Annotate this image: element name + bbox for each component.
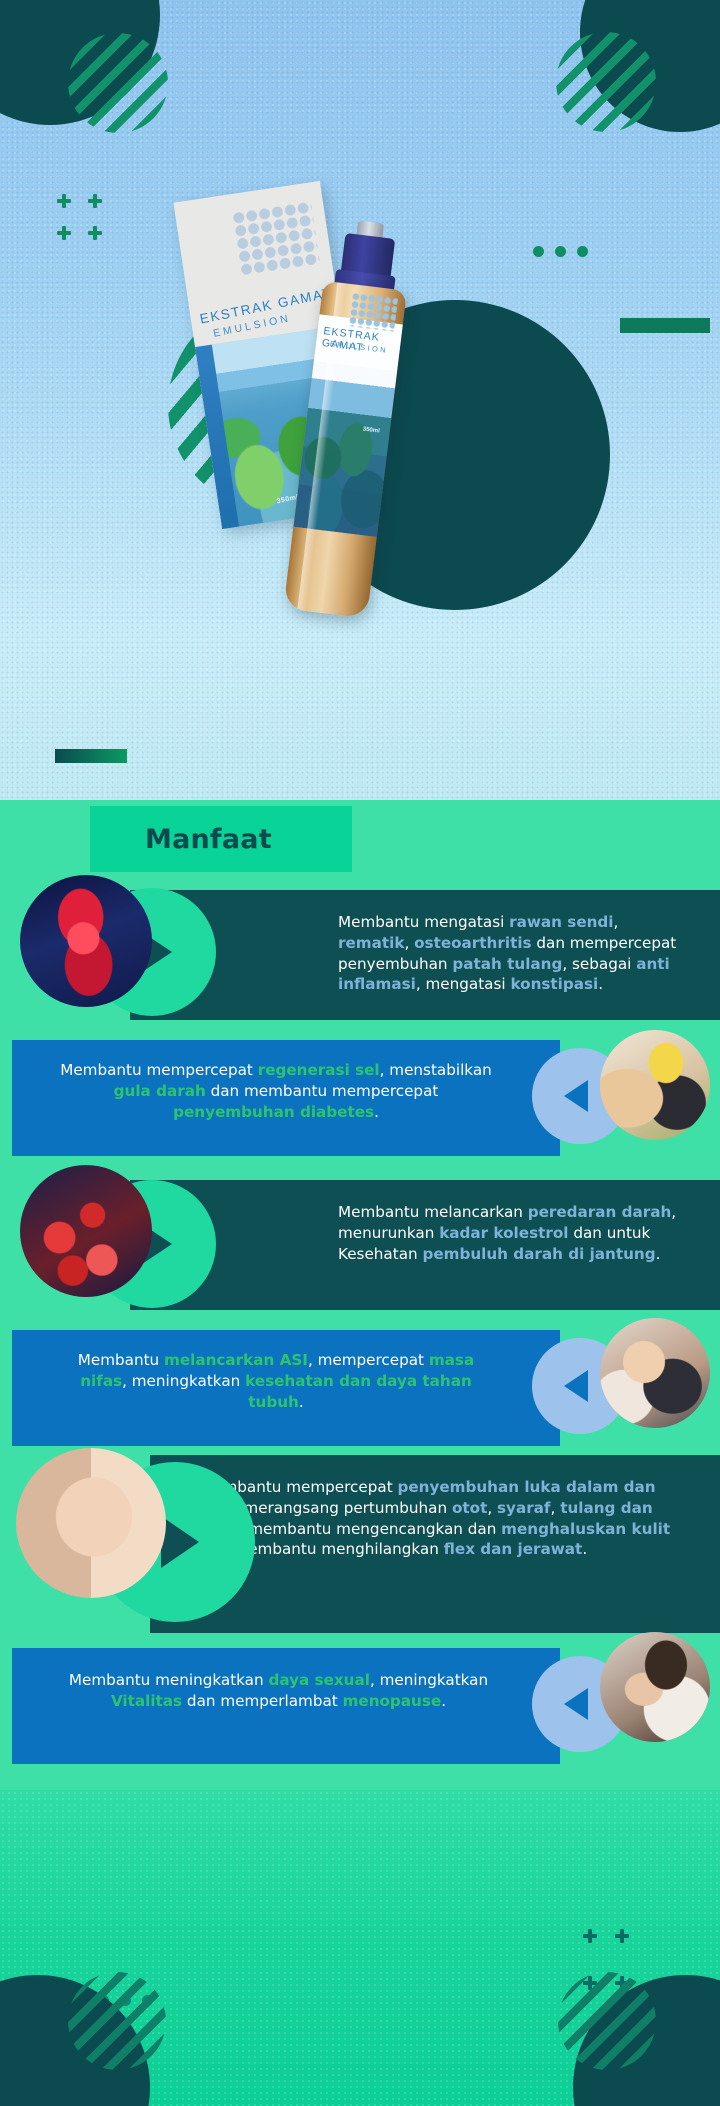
glucose-meter-photo — [600, 1030, 710, 1140]
benefit-photo-2 — [600, 1030, 710, 1140]
benefit-text-2: Membantu mempercepat regenerasi sel, men… — [52, 1060, 500, 1122]
couple-photo — [600, 1632, 710, 1742]
play-triangle-icon — [161, 1516, 199, 1568]
breastfeeding-mother-photo — [600, 1318, 710, 1428]
benefit-text-6: Membantu meningkatkan daya sexual, menin… — [52, 1670, 505, 1712]
face-skin-photo — [16, 1448, 166, 1598]
benefit-photo-5 — [16, 1448, 166, 1598]
benefit-text-1: Membantu mengatasi rawan sendi, rematik,… — [338, 912, 688, 995]
benefit-block-2: Membantu mempercepat regenerasi sel, men… — [12, 1040, 560, 1156]
benefit-block-1: Membantu mengatasi rawan sendi, rematik,… — [130, 890, 720, 1020]
back-triangle-icon — [564, 1688, 588, 1720]
blood-cells-photo — [20, 1165, 152, 1297]
benefit-photo-6 — [600, 1632, 710, 1742]
benefit-photo-3 — [20, 1165, 152, 1297]
benefit-block-4: Membantu melancarkan ASI, mempercepat ma… — [12, 1330, 560, 1446]
benefit-text-4: Membantu melancarkan ASI, mempercepat ma… — [52, 1350, 500, 1412]
benefit-text-3: Membantu melancarkan peredaran darah, me… — [338, 1202, 688, 1264]
striped-circle-bottom-left — [68, 1972, 166, 2070]
benefit-text-5: Membantu mempercepat penyembuhan luka da… — [200, 1477, 692, 1560]
footer-decoration — [0, 1790, 720, 2106]
benefit-photo-1 — [20, 875, 152, 1007]
back-triangle-icon — [564, 1080, 588, 1112]
infographic-page: EKSTRAK GAMAT EMULSION 350ml EKSTRAK GAM… — [0, 0, 720, 2106]
benefit-photo-4 — [600, 1318, 710, 1428]
benefit-block-3: Membantu melancarkan peredaran darah, me… — [130, 1180, 720, 1310]
section-heading-manfaat: Manfaat — [90, 806, 352, 872]
back-triangle-icon — [564, 1370, 588, 1402]
striped-circle-bottom-right — [558, 1972, 656, 2070]
benefit-block-6: Membantu meningkatkan daya sexual, menin… — [12, 1648, 560, 1764]
knee-joint-photo — [20, 875, 152, 1007]
page-title: Manfaat — [145, 824, 272, 855]
